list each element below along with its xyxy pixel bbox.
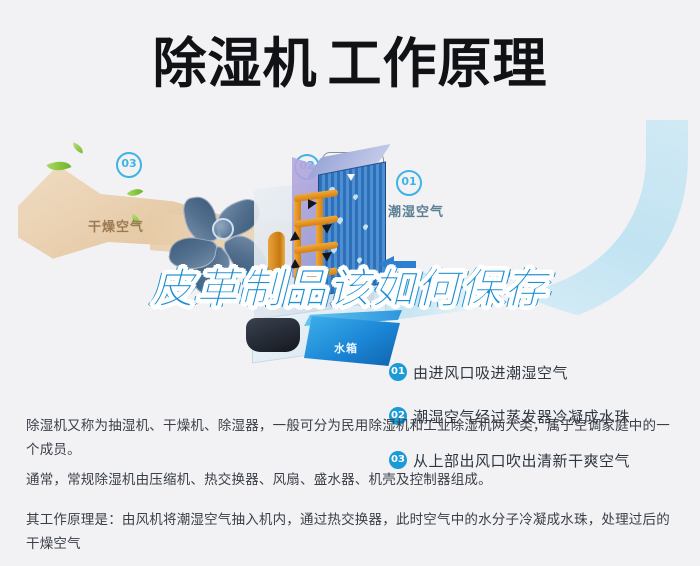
title-part-primary: 除湿机	[153, 32, 318, 95]
dehumidifier-diagram: 03 干燥空气 02 热交换器 01 潮湿空气	[0, 112, 700, 402]
paragraph-1-line-1: 除湿机又称为抽湿机、干燥机、除湿器，一般可分为民用除湿机和工业除湿机两大类，属于…	[26, 414, 676, 462]
refrigerant-cylinder	[268, 231, 285, 295]
paragraph-2-line-1: 其工作原理是：由风机将潮湿空气抽入机内，通过热交换器，此时空气中的水分子冷凝成水…	[26, 508, 676, 556]
legend-item: 01 由进风口吸进潮湿空气	[389, 357, 689, 387]
page-title: 除湿机工作原理	[0, 24, 700, 104]
water-droplet	[352, 193, 359, 200]
legend-badge-01: 01	[389, 363, 407, 381]
water-droplet	[356, 257, 363, 264]
dehumidifier-unit: 水箱	[246, 160, 426, 370]
water-tank-label: 水箱	[334, 340, 358, 356]
diagram-badge-03: 03	[116, 152, 142, 178]
flow-arrow-up	[290, 230, 300, 240]
title-part-secondary: 工作原理	[328, 32, 548, 95]
infographic-page: 除湿机工作原理 03 干燥空气 02 热交换器 01 潮湿空气	[0, 0, 700, 566]
flow-arrow-down	[322, 252, 332, 262]
condenser-coils	[264, 183, 342, 304]
flow-arrow-up	[290, 258, 300, 268]
air-intake-arrow-tail	[392, 261, 416, 268]
dry-air-label: 干燥空气	[88, 216, 144, 235]
legend-text-01: 由进风口吸进潮湿空气	[413, 362, 568, 383]
fan-hub	[212, 218, 234, 240]
flow-arrow-right	[308, 198, 317, 209]
compressor	[246, 318, 300, 352]
leaf-icon	[71, 142, 85, 153]
water-droplet	[362, 223, 369, 230]
paragraph-1-line-2: 通常，常规除湿机由压缩机、热交换器、风扇、盛水器、机壳及控制器组成。	[26, 468, 676, 492]
flow-arrow-down	[322, 224, 332, 234]
paragraph-2-line-2: 排出机外，如此循环使室内湿度保持在适宜的相对湿度。	[26, 562, 676, 566]
article-body: 除湿机又称为抽湿机、干燥机、除湿器，一般可分为民用除湿机和工业除湿机两大类，属于…	[26, 414, 676, 566]
